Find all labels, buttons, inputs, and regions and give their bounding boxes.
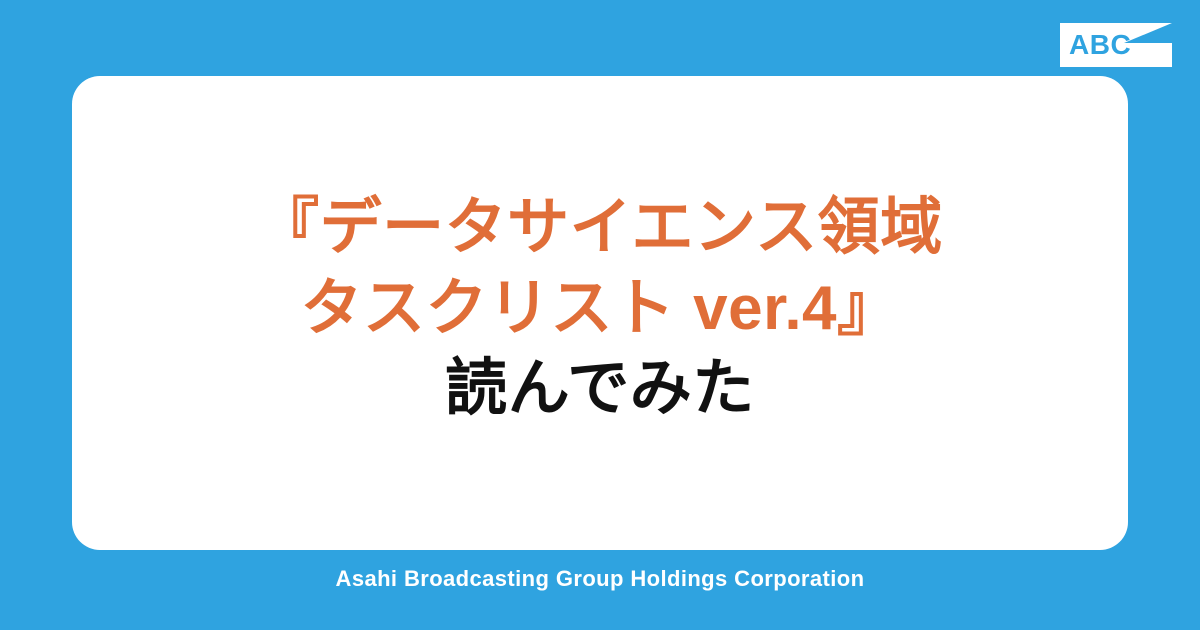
swoosh-icon bbox=[1110, 23, 1172, 45]
abc-logo: ABC bbox=[1060, 23, 1172, 67]
page-title: 『データサイエンス領域 タスクリスト ver.4』 読んでみた bbox=[72, 188, 1128, 430]
footer-company-name: Asahi Broadcasting Group Holdings Corpor… bbox=[0, 566, 1200, 592]
content-card: 『データサイエンス領域 タスクリスト ver.4』 読んでみた bbox=[72, 76, 1128, 550]
slide-canvas: ABC 『データサイエンス領域 タスクリスト ver.4』 読んでみた Asah… bbox=[0, 0, 1200, 630]
title-line-1: 『データサイエンス領域 bbox=[72, 188, 1128, 269]
title-line-3: 読んでみた bbox=[72, 349, 1128, 430]
title-line-2: タスクリスト ver.4』 bbox=[72, 269, 1128, 350]
